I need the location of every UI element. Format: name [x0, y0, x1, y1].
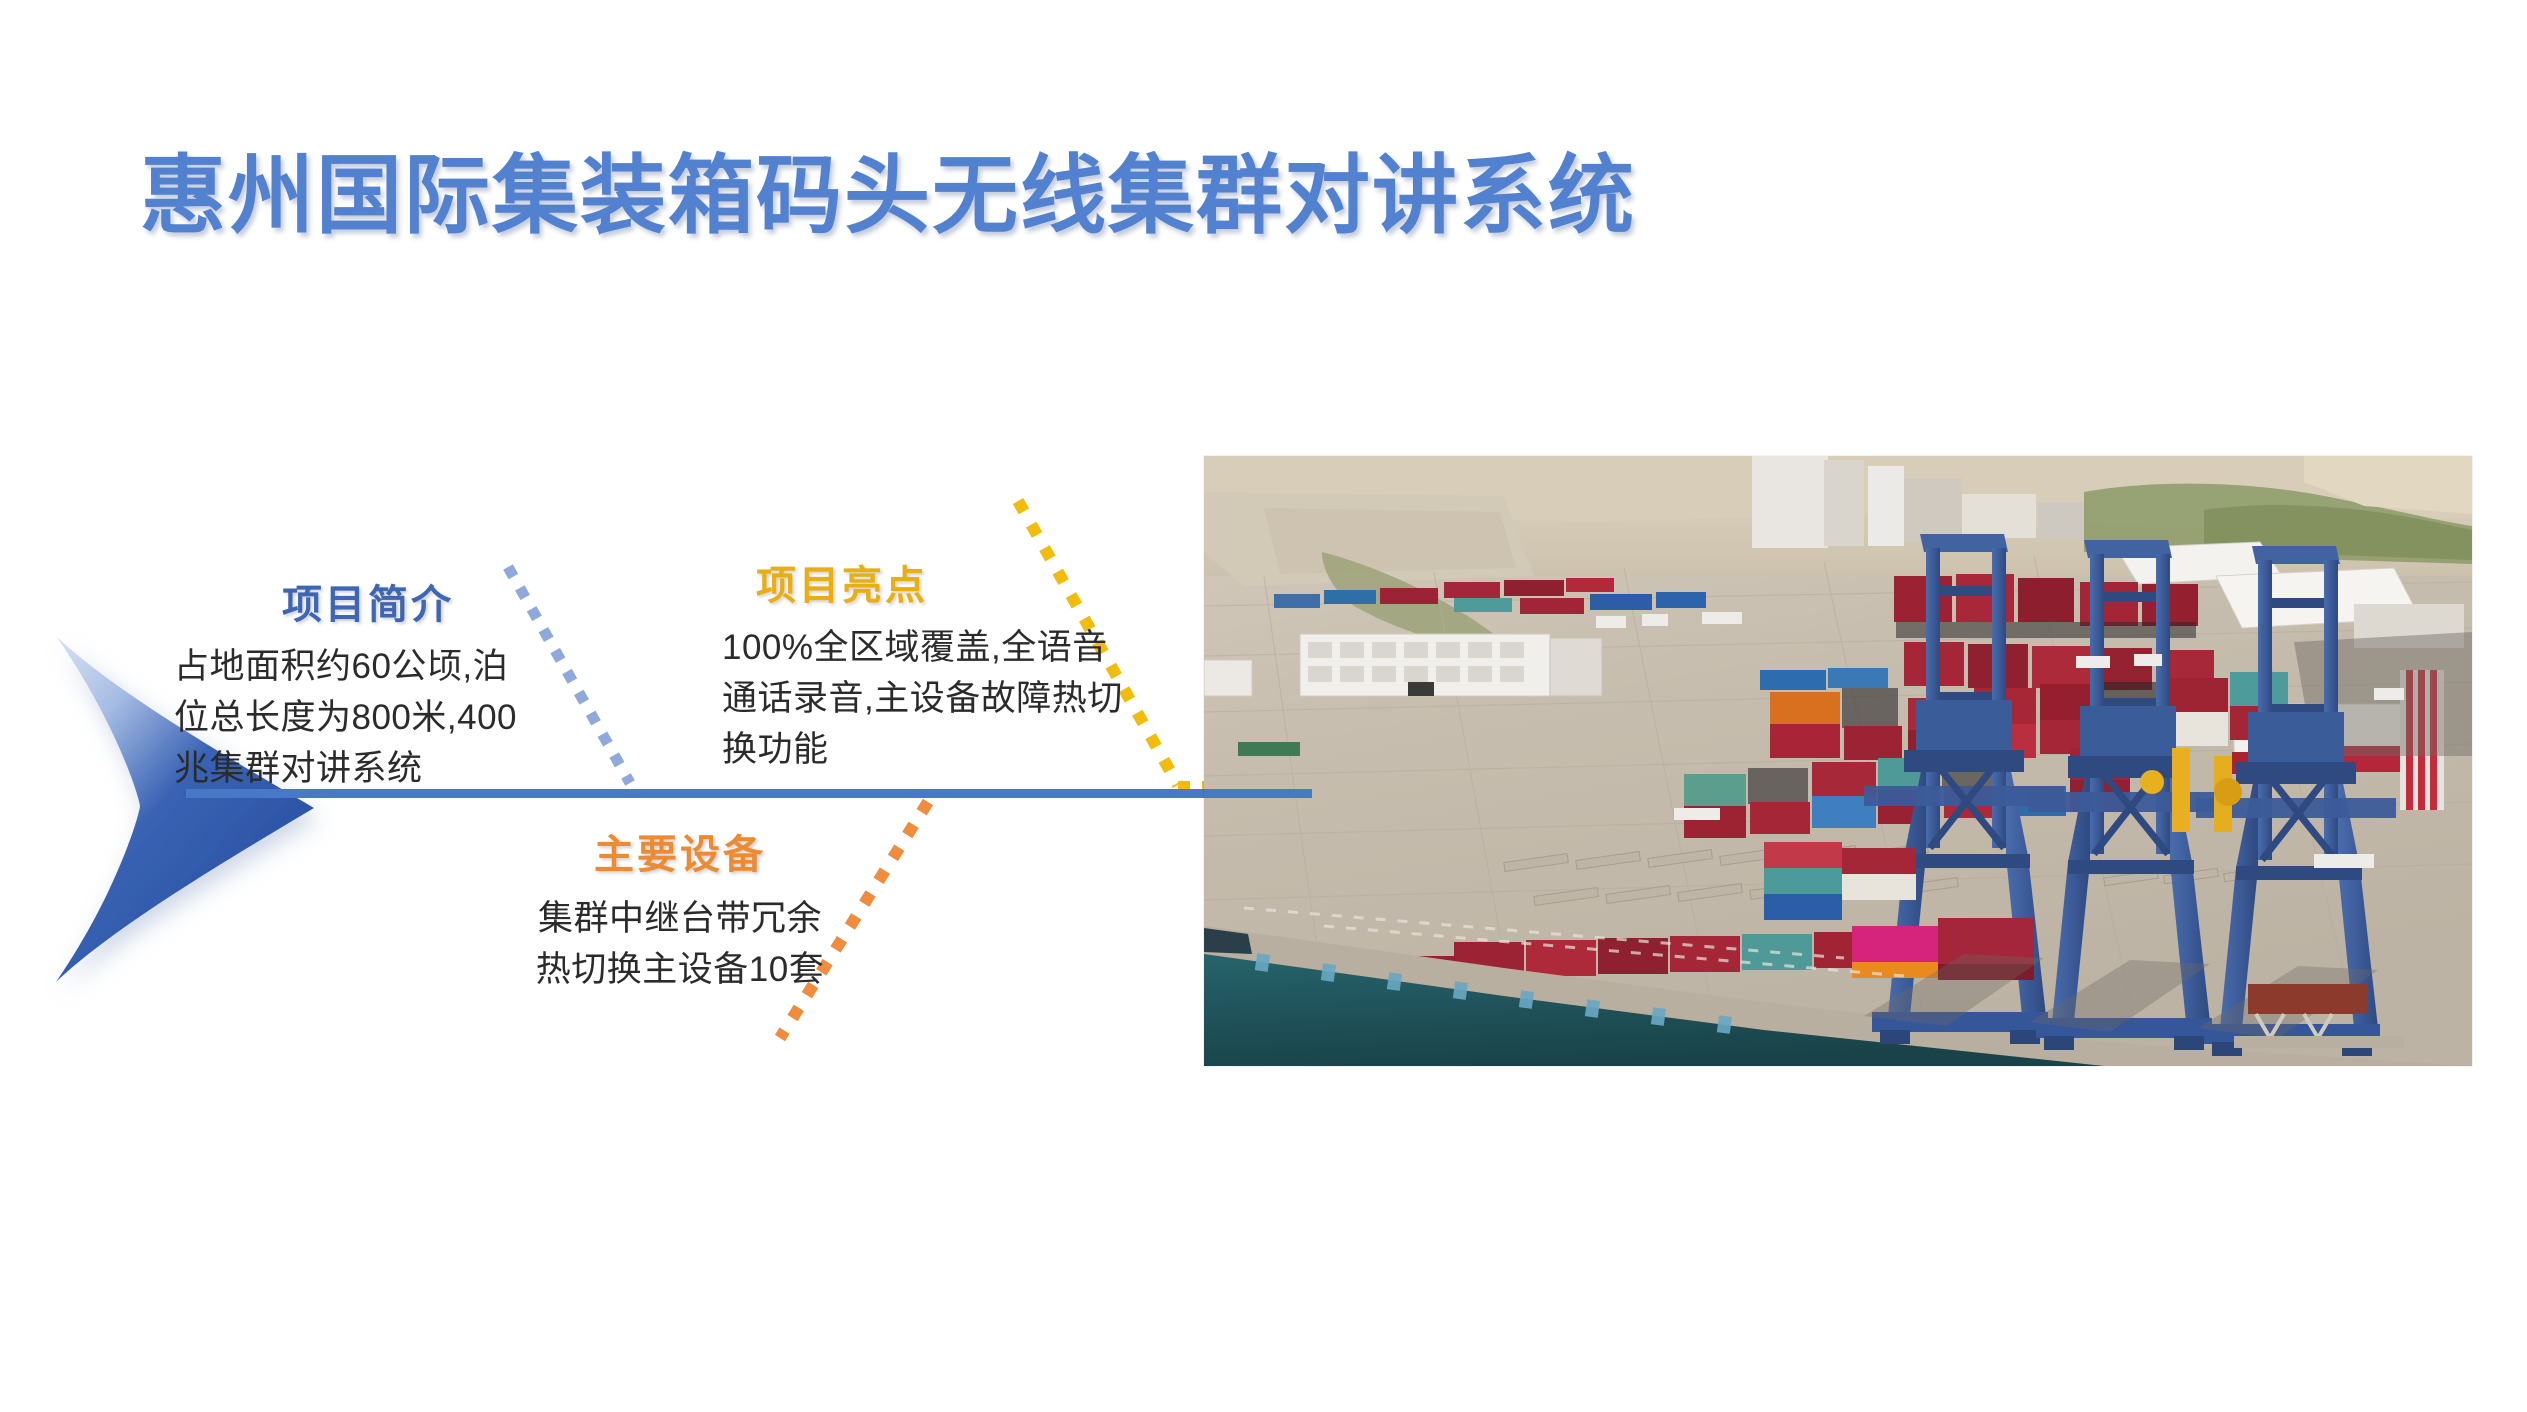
info-block-highlight: 项目亮点 100%全区域覆盖,全语音 通话录音,主设备故障热切 换功能 — [722, 553, 1142, 775]
slide-root: 惠州国际集装箱码头无线集群对讲系统 — [0, 0, 2527, 1412]
terminal-aerial-photo — [1204, 456, 2472, 1066]
equipment-line-1: 集群中继台带冗余 — [470, 894, 890, 945]
highlight-body: 100%全区域覆盖,全语音 通话录音,主设备故障热切 换功能 — [722, 623, 1142, 775]
equipment-heading: 主要设备 — [470, 822, 890, 880]
equipment-body: 集群中继台带冗余 热切换主设备10套 — [470, 894, 890, 996]
center-divider-line-overlap — [1204, 789, 1312, 798]
highlight-heading: 项目亮点 — [722, 553, 1142, 611]
info-block-intro: 项目简介 占地面积约60公顷,泊 位总长度为800米,400 兆集群对讲系统 — [168, 572, 568, 794]
page-title: 惠州国际集装箱码头无线集群对讲系统 — [140, 125, 1636, 250]
intro-body: 占地面积约60公顷,泊 位总长度为800米,400 兆集群对讲系统 — [168, 642, 568, 794]
highlight-line-1: 100%全区域覆盖,全语音 — [722, 623, 1142, 674]
info-block-equipment: 主要设备 集群中继台带冗余 热切换主设备10套 — [470, 822, 890, 996]
highlight-line-3: 换功能 — [722, 725, 1142, 776]
intro-line-2: 位总长度为800米,400 — [174, 693, 568, 744]
highlight-line-2: 通话录音,主设备故障热切 — [722, 674, 1142, 725]
intro-heading: 项目简介 — [168, 572, 568, 630]
intro-line-1: 占地面积约60公顷,泊 — [174, 642, 568, 693]
intro-line-3: 兆集群对讲系统 — [174, 744, 568, 795]
equipment-line-2: 热切换主设备10套 — [470, 945, 890, 996]
